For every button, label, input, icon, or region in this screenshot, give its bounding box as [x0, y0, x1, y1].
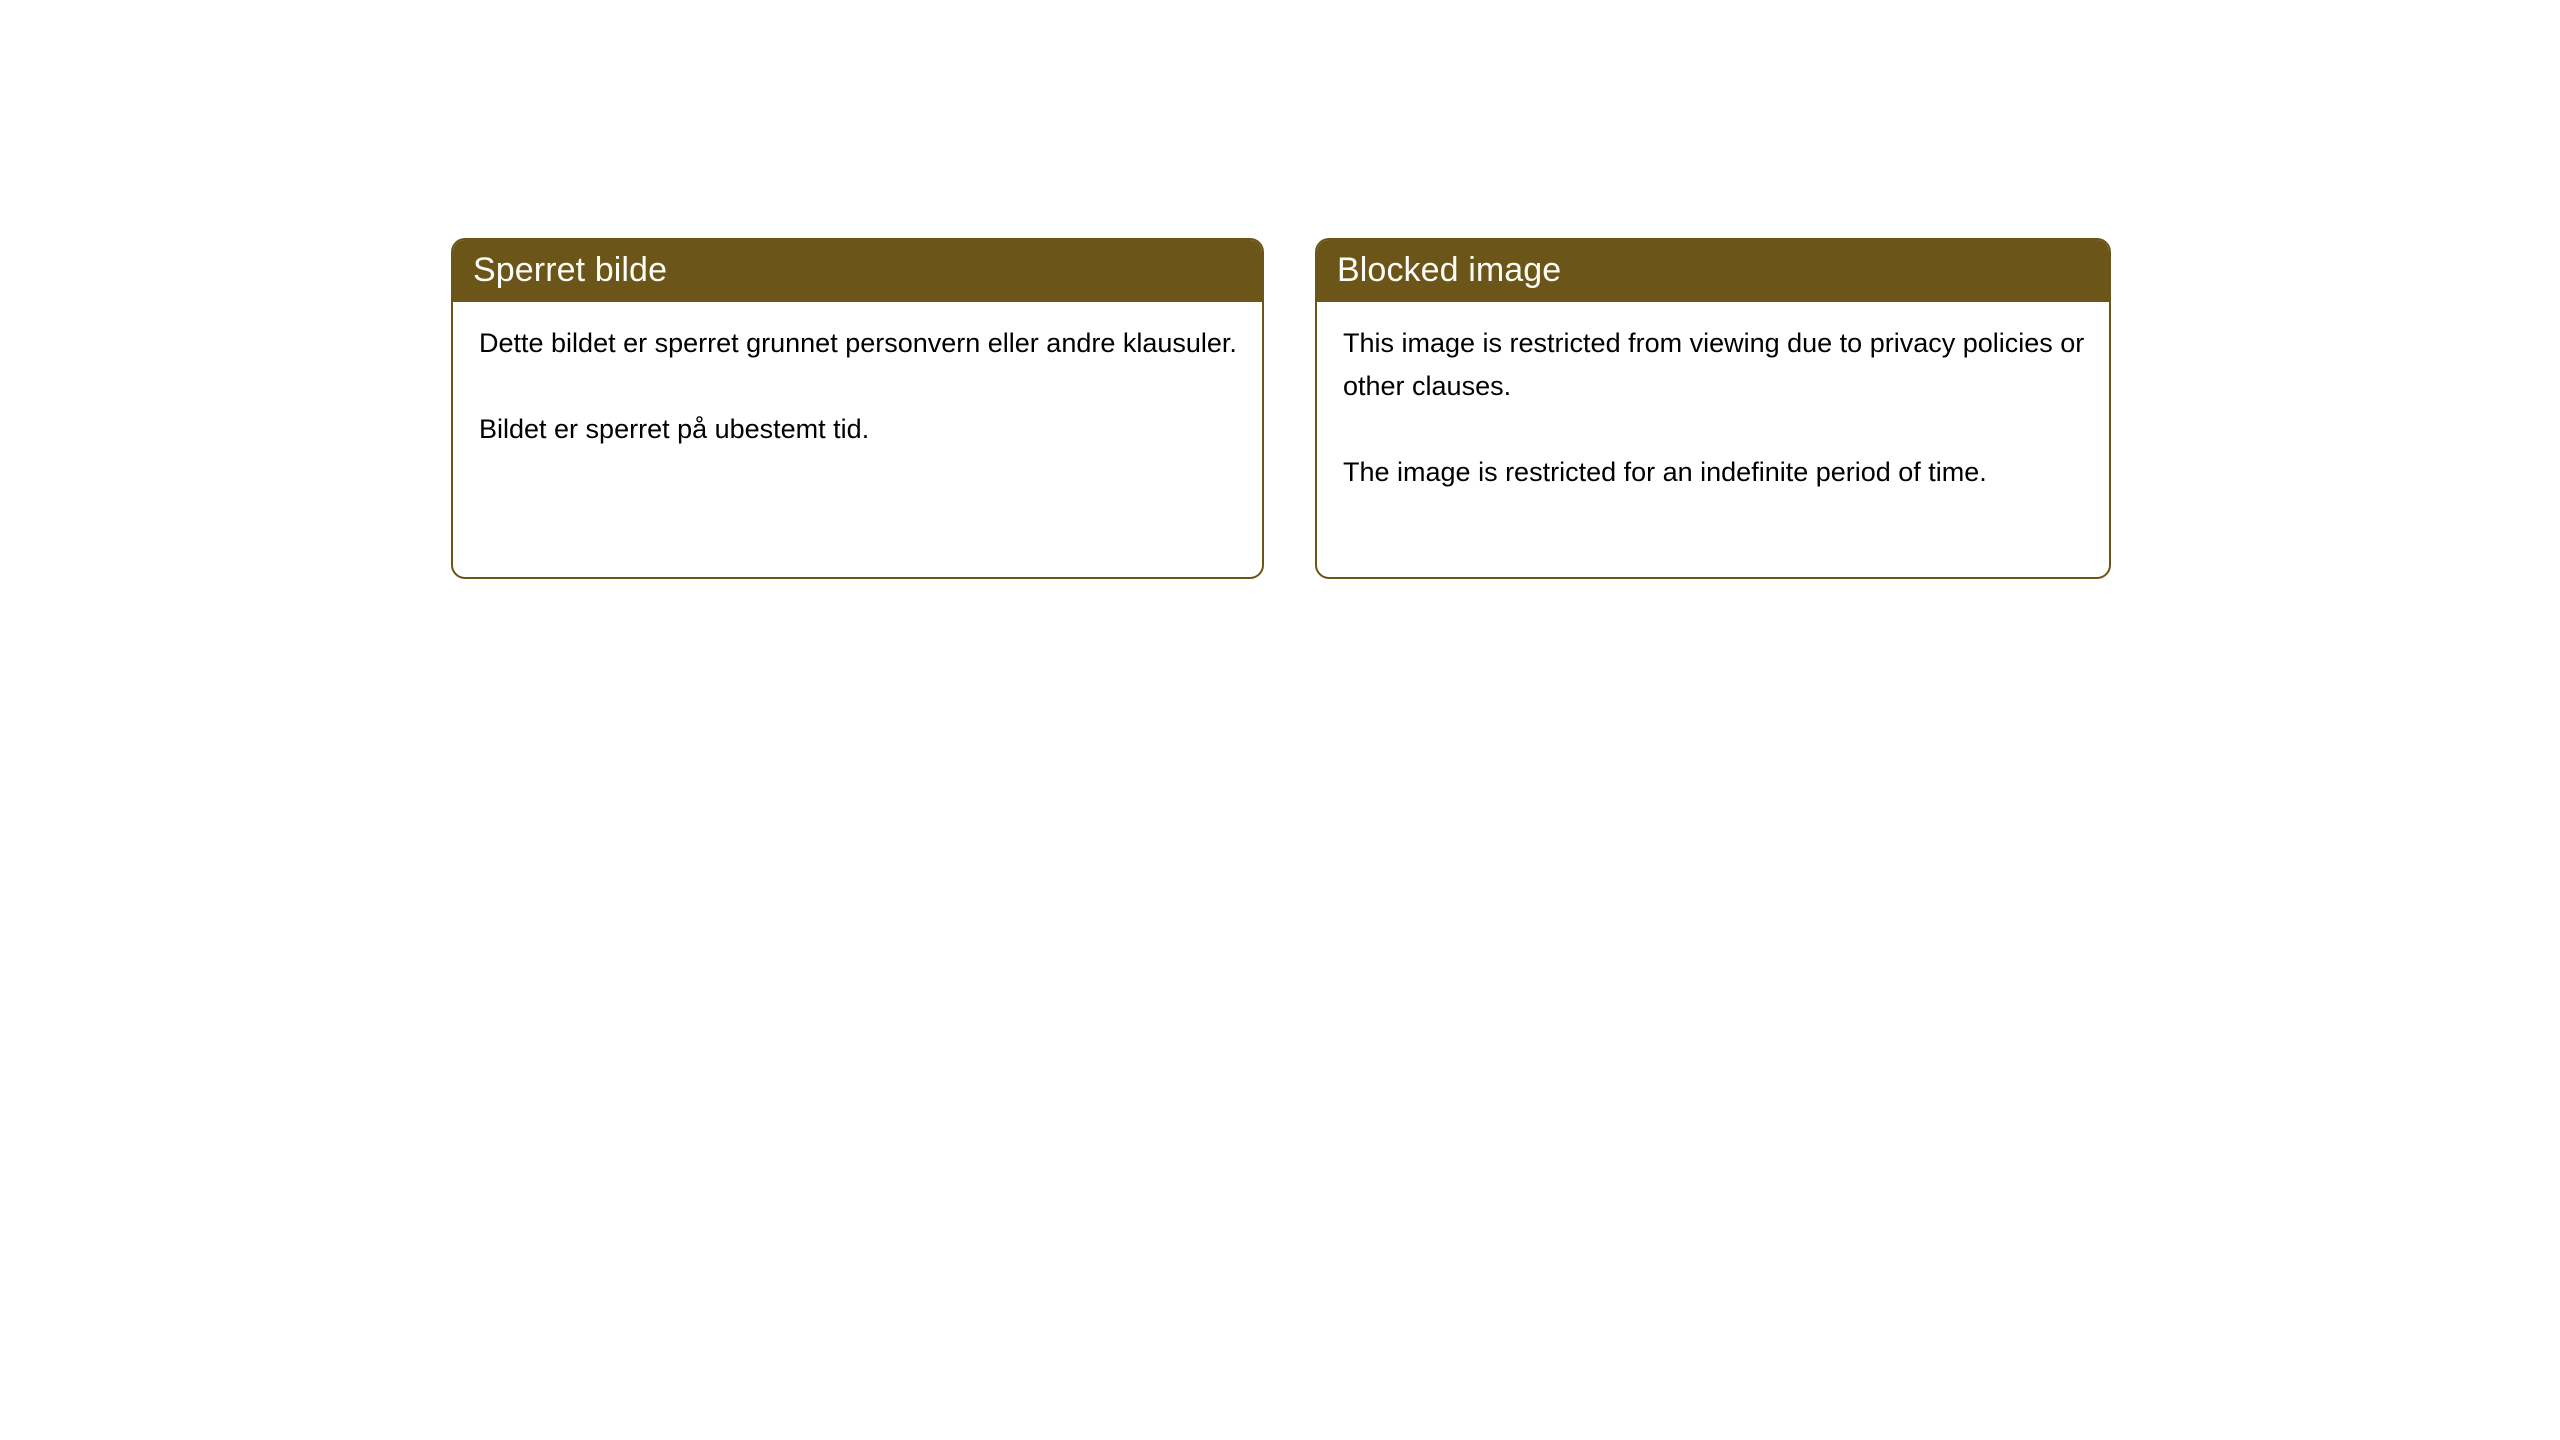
card-header-english: Blocked image: [1315, 238, 2111, 302]
card-body-english: This image is restricted from viewing du…: [1317, 302, 2109, 494]
notice-paragraph: Bildet er sperret på ubestemt tid.: [479, 408, 1242, 451]
notice-paragraph: The image is restricted for an indefinit…: [1343, 451, 2089, 494]
page-root: Sperret bilde Dette bildet er sperret gr…: [0, 0, 2560, 1440]
blocked-image-notice-norwegian: Sperret bilde Dette bildet er sperret gr…: [451, 238, 1264, 579]
notice-paragraph: This image is restricted from viewing du…: [1343, 322, 2089, 408]
card-body-norwegian: Dette bildet er sperret grunnet personve…: [453, 302, 1262, 451]
blocked-image-notice-english: Blocked image This image is restricted f…: [1315, 238, 2111, 579]
card-header-norwegian: Sperret bilde: [451, 238, 1264, 302]
card-title-english: Blocked image: [1337, 253, 1561, 287]
notice-paragraph: Dette bildet er sperret grunnet personve…: [479, 322, 1242, 365]
card-title-norwegian: Sperret bilde: [473, 253, 667, 287]
